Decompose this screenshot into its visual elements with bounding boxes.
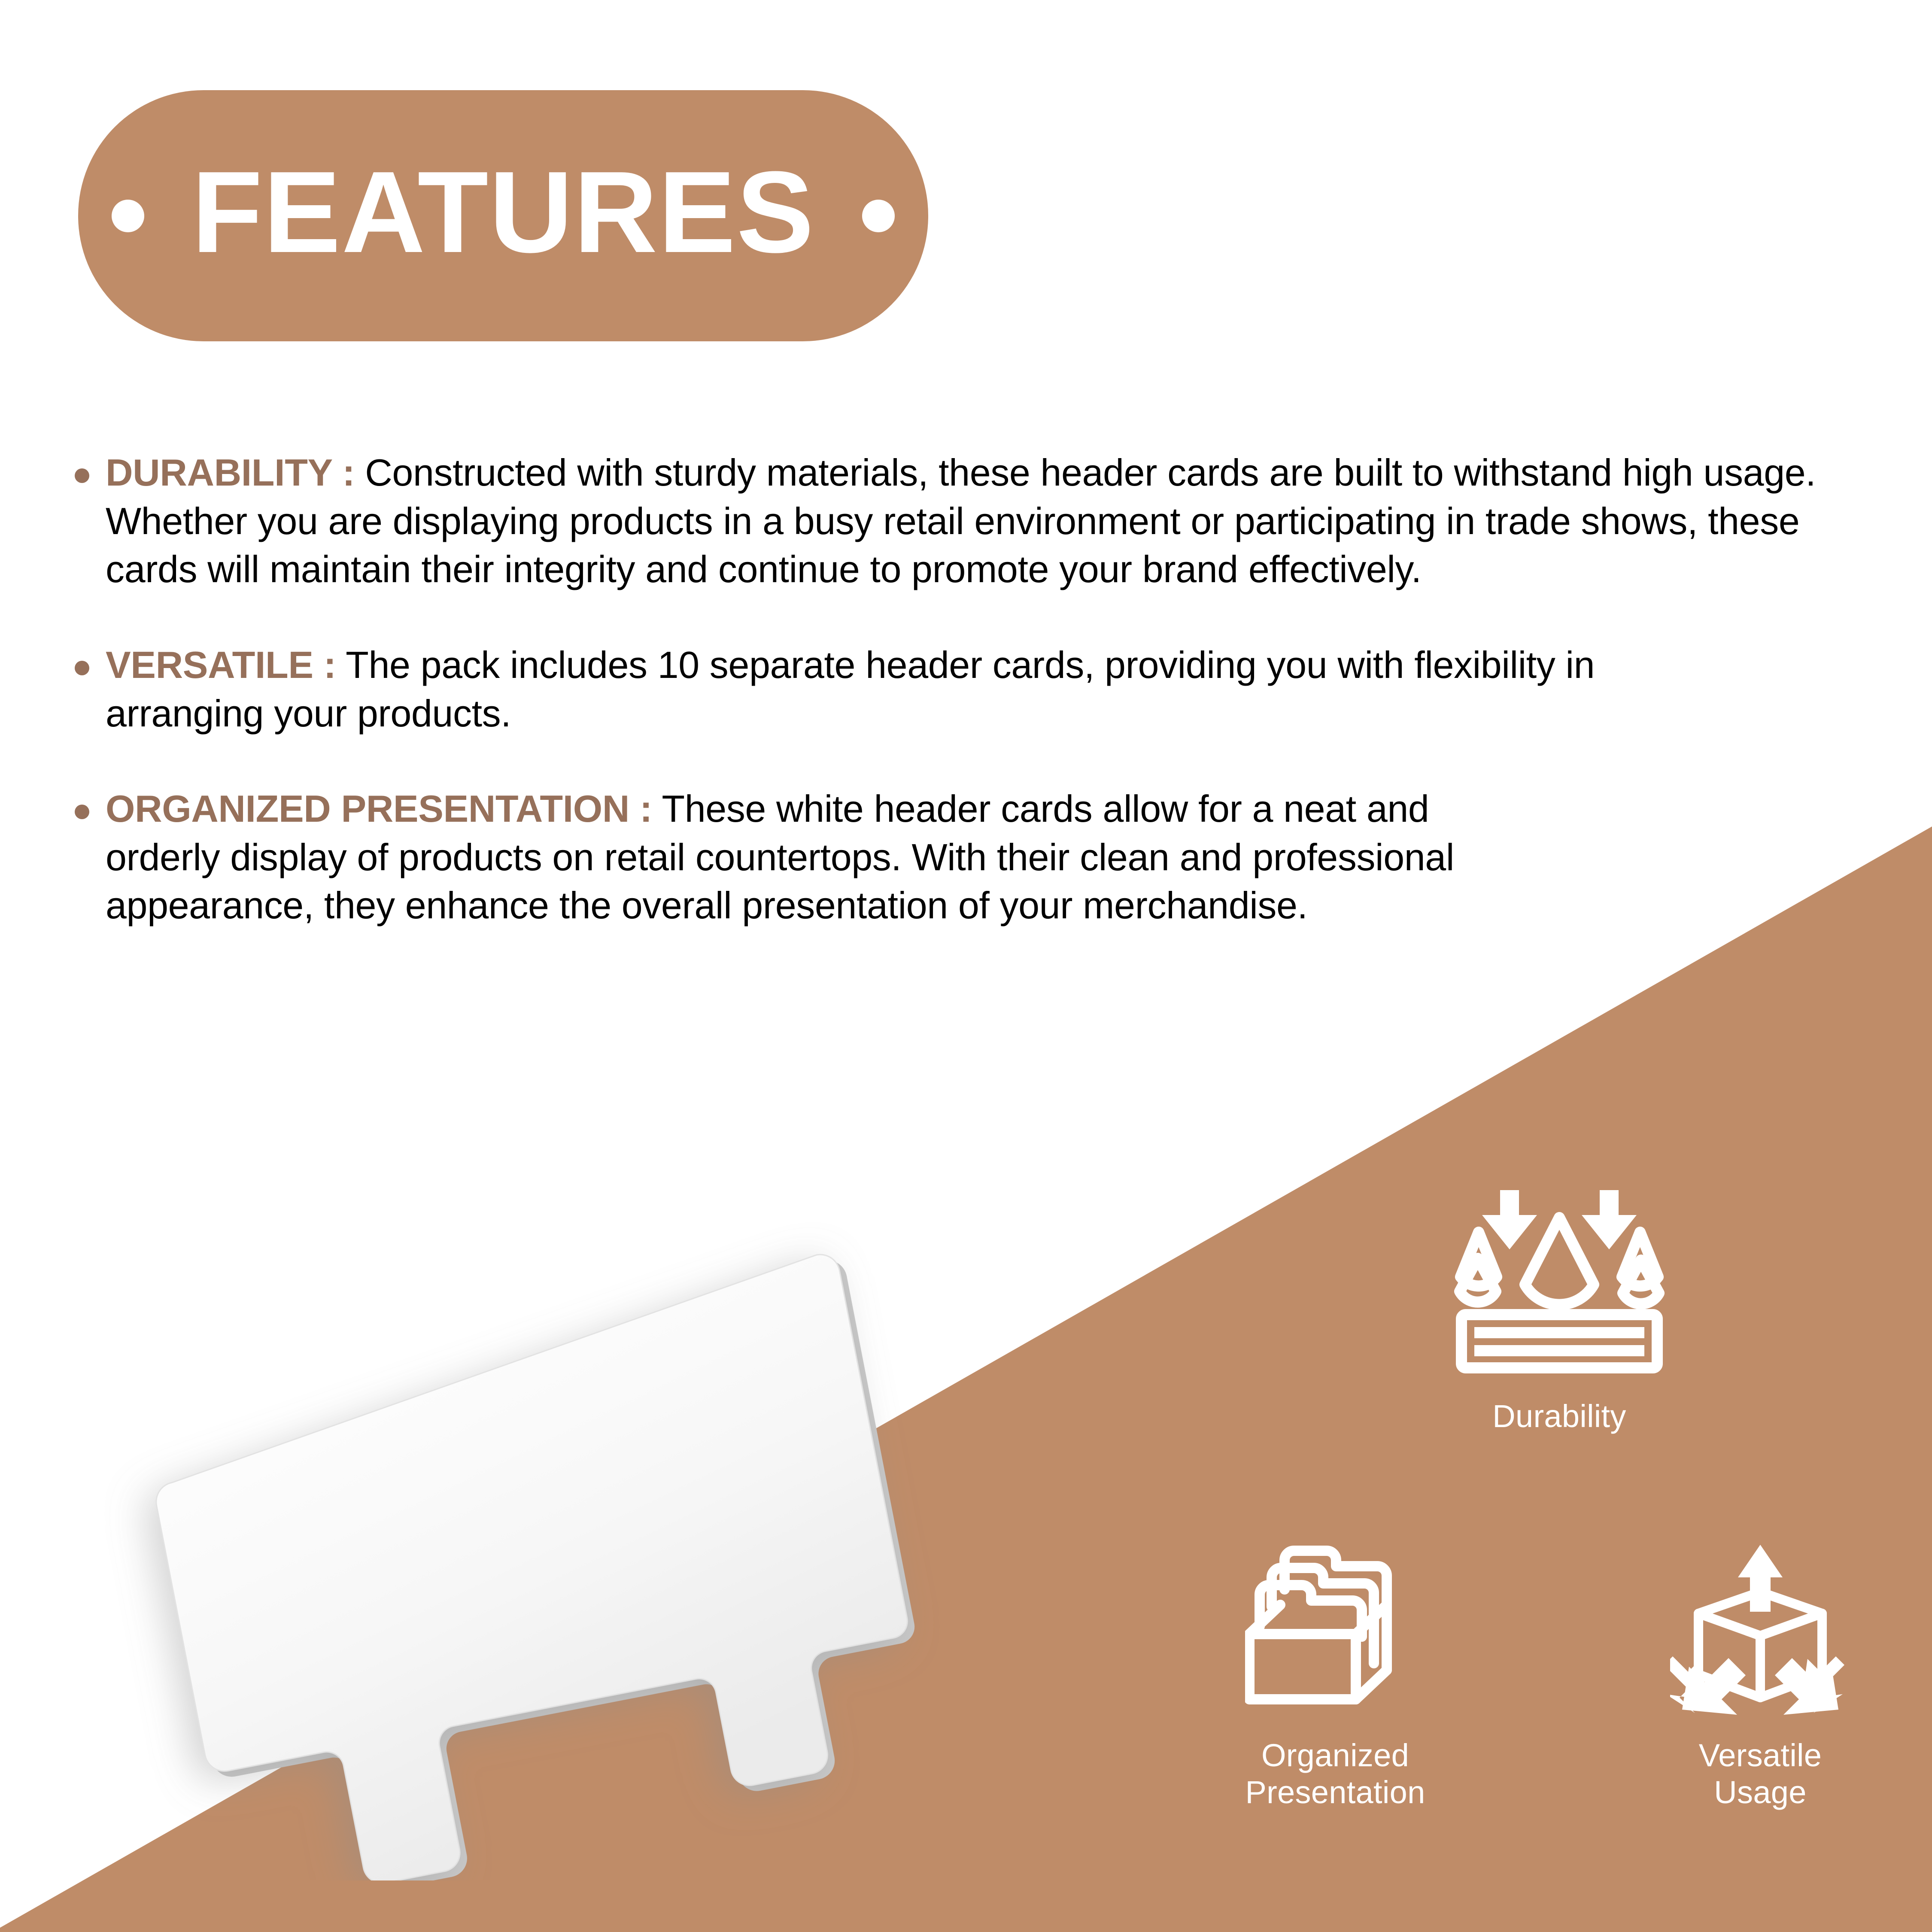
bullet-dot-icon (75, 661, 89, 675)
list-item: ORGANIZED PRESENTATION : These white hea… (72, 785, 1867, 930)
list-item: VERSATILE : The pack includes 10 separat… (72, 641, 1867, 738)
circle-dot-icon-left (112, 200, 144, 232)
bullet-dot-icon (75, 805, 89, 819)
icon-feature-versatile-usage: Versatile Usage (1670, 1538, 1850, 1811)
icon-feature-durability: Durability (1452, 1177, 1667, 1435)
feature-list: DURABILITY : Constructed with sturdy mat… (72, 449, 1867, 930)
feature-paragraph: VERSATILE : The pack includes 10 separat… (106, 641, 1694, 738)
features-infographic-page: FEATURES DURABILITY : Constructed with s… (0, 0, 1932, 1932)
feature-label: VERSATILE : (106, 644, 336, 686)
features-badge: FEATURES (78, 90, 928, 341)
feature-paragraph: DURABILITY : Constructed with sturdy mat… (106, 449, 1874, 594)
header-card-product-photo (99, 1194, 1129, 1880)
circle-dot-icon-right (862, 200, 895, 232)
icon-caption: Durability (1492, 1398, 1626, 1435)
icon-caption: Organized Presentation (1245, 1737, 1425, 1811)
page-title: FEATURES (144, 155, 862, 277)
feature-paragraph: ORGANIZED PRESENTATION : These white hea… (106, 785, 1535, 930)
feature-label: ORGANIZED PRESENTATION : (106, 787, 652, 830)
water-droplets-on-layers-icon (1452, 1177, 1667, 1379)
list-item: DURABILITY : Constructed with sturdy mat… (72, 449, 1867, 594)
feature-label: DURABILITY : (106, 451, 355, 494)
icon-feature-organized-presentation: Organized Presentation (1245, 1538, 1425, 1811)
feature-body: Constructed with sturdy materials, these… (106, 451, 1816, 590)
stacked-folders-icon (1245, 1538, 1425, 1718)
bullet-dot-icon (75, 468, 89, 483)
icon-caption: Versatile Usage (1699, 1737, 1822, 1811)
cube-with-expanding-arrows-icon (1670, 1538, 1850, 1718)
